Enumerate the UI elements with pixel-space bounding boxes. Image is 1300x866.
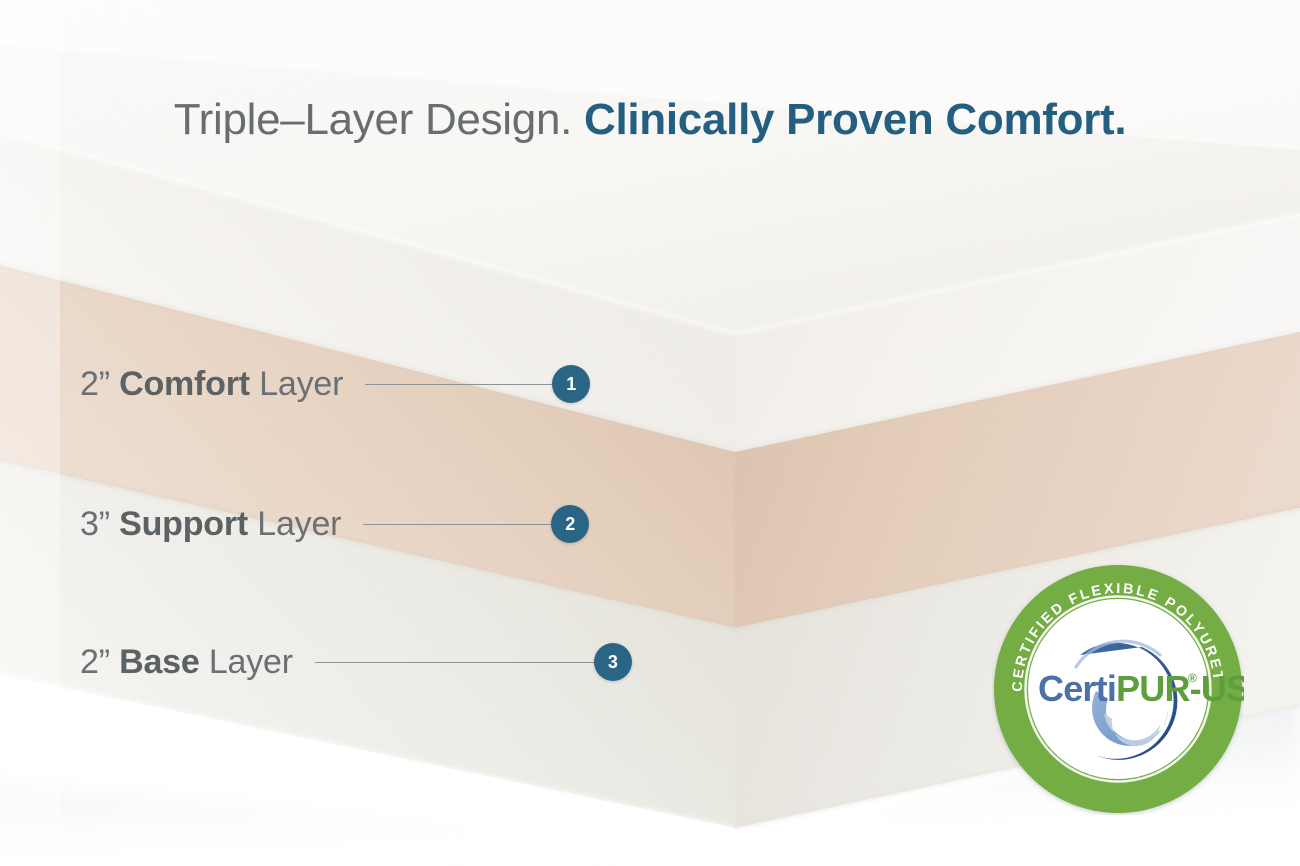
- headline-part-accent: Clinically Proven Comfort.: [584, 95, 1126, 144]
- badge-number-3: 3: [594, 643, 632, 681]
- seal-wordmark: CertiPUR-US ®: [1038, 668, 1244, 709]
- leader-line-comfort: [365, 384, 553, 385]
- seal-registered-mark: ®: [1188, 671, 1197, 685]
- callout-label-support: 3” Support Layer: [80, 505, 341, 544]
- callout-suffix-support: Layer: [257, 505, 341, 543]
- leader-line-support: [363, 524, 552, 525]
- badge-number-2: 2: [551, 505, 589, 543]
- page-title: Triple–Layer Design. Clinically Proven C…: [0, 95, 1300, 145]
- headline-part-normal: Triple–Layer Design.: [174, 95, 572, 144]
- leader-line-base: [315, 662, 595, 663]
- callout-name-comfort: Comfort: [119, 365, 250, 403]
- seal-brand-certi: Certi: [1038, 668, 1116, 709]
- callout-suffix-comfort: Layer: [259, 365, 343, 403]
- callout-thickness-support: 3”: [80, 505, 110, 543]
- callout-base-layer: 2” Base Layer 3: [80, 642, 632, 682]
- callout-label-base: 2” Base Layer: [80, 643, 293, 682]
- callout-thickness-comfort: 2”: [80, 365, 110, 403]
- certipur-us-seal: CONTAINS CERTIFIED FLEXIBLE POLYURETHANE…: [992, 563, 1244, 815]
- svg-text:CertiPUR-US: CertiPUR-US: [1038, 668, 1244, 709]
- callout-comfort-layer: 2” Comfort Layer 1: [80, 364, 590, 404]
- callout-suffix-base: Layer: [209, 643, 293, 681]
- callout-support-layer: 3” Support Layer 2: [80, 504, 589, 544]
- infographic-canvas: Triple–Layer Design. Clinically Proven C…: [0, 0, 1300, 866]
- callout-thickness-base: 2”: [80, 643, 110, 681]
- badge-number-1: 1: [552, 365, 590, 403]
- callout-name-base: Base: [119, 643, 199, 681]
- callout-label-comfort: 2” Comfort Layer: [80, 365, 343, 404]
- callout-name-support: Support: [119, 505, 248, 543]
- seal-brand-purus: PUR-US: [1116, 668, 1244, 709]
